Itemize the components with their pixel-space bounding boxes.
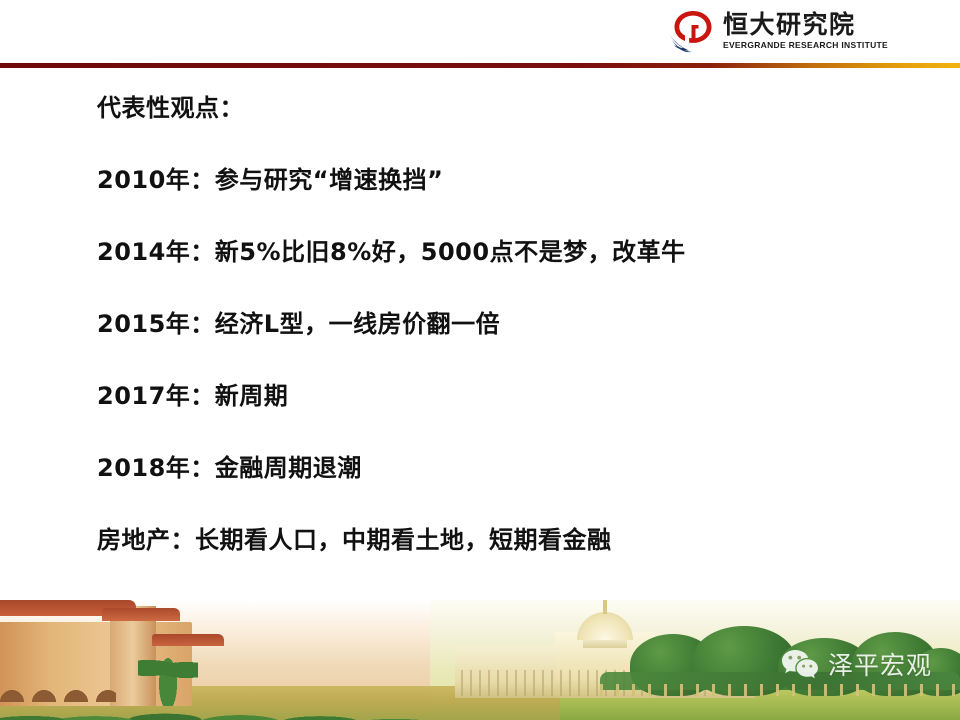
photo-foliage (0, 674, 430, 720)
brand-name-en: EVERGRANDE RESEARCH INSTITUTE (723, 41, 888, 50)
body-line-2018: 2018年：金融周期退潮 (97, 456, 887, 480)
footer-photo-strip: 泽平宏观 (0, 600, 960, 720)
body-line-2017: 2017年：新周期 (97, 384, 887, 408)
photo-balustrade (600, 684, 960, 696)
watermark-label: 泽平宏观 (828, 646, 932, 682)
body-line-2014: 2014年：新5%比旧8%好，5000点不是梦，改革牛 (97, 240, 887, 264)
brand-logo: 恒大研究院 EVERGRANDE RESEARCH INSTITUTE (669, 9, 888, 53)
slide-body: 代表性观点： 2010年：参与研究“增速换挡” 2014年：新5%比旧8%好，5… (97, 96, 887, 552)
body-line-2010: 2010年：参与研究“增速换挡” (97, 168, 887, 192)
brand-name-cn: 恒大研究院 (723, 12, 856, 37)
slide: 恒大研究院 EVERGRANDE RESEARCH INSTITUTE 代表性观… (0, 0, 960, 720)
wechat-watermark: 泽平宏观 (781, 646, 932, 682)
slide-header: 恒大研究院 EVERGRANDE RESEARCH INSTITUTE (0, 0, 960, 63)
body-heading: 代表性观点： (97, 96, 887, 120)
header-divider-rule (0, 63, 960, 68)
body-line-2015: 2015年：经济L型，一线房价翻一倍 (97, 312, 887, 336)
body-line-real-estate: 房地产：长期看人口，中期看土地，短期看金融 (97, 528, 887, 552)
evergrande-logo-mark-icon (669, 9, 715, 53)
photo-palm-tree (138, 654, 198, 706)
brand-wordmark: 恒大研究院 EVERGRANDE RESEARCH INSTITUTE (723, 12, 888, 50)
wechat-icon (781, 648, 819, 680)
